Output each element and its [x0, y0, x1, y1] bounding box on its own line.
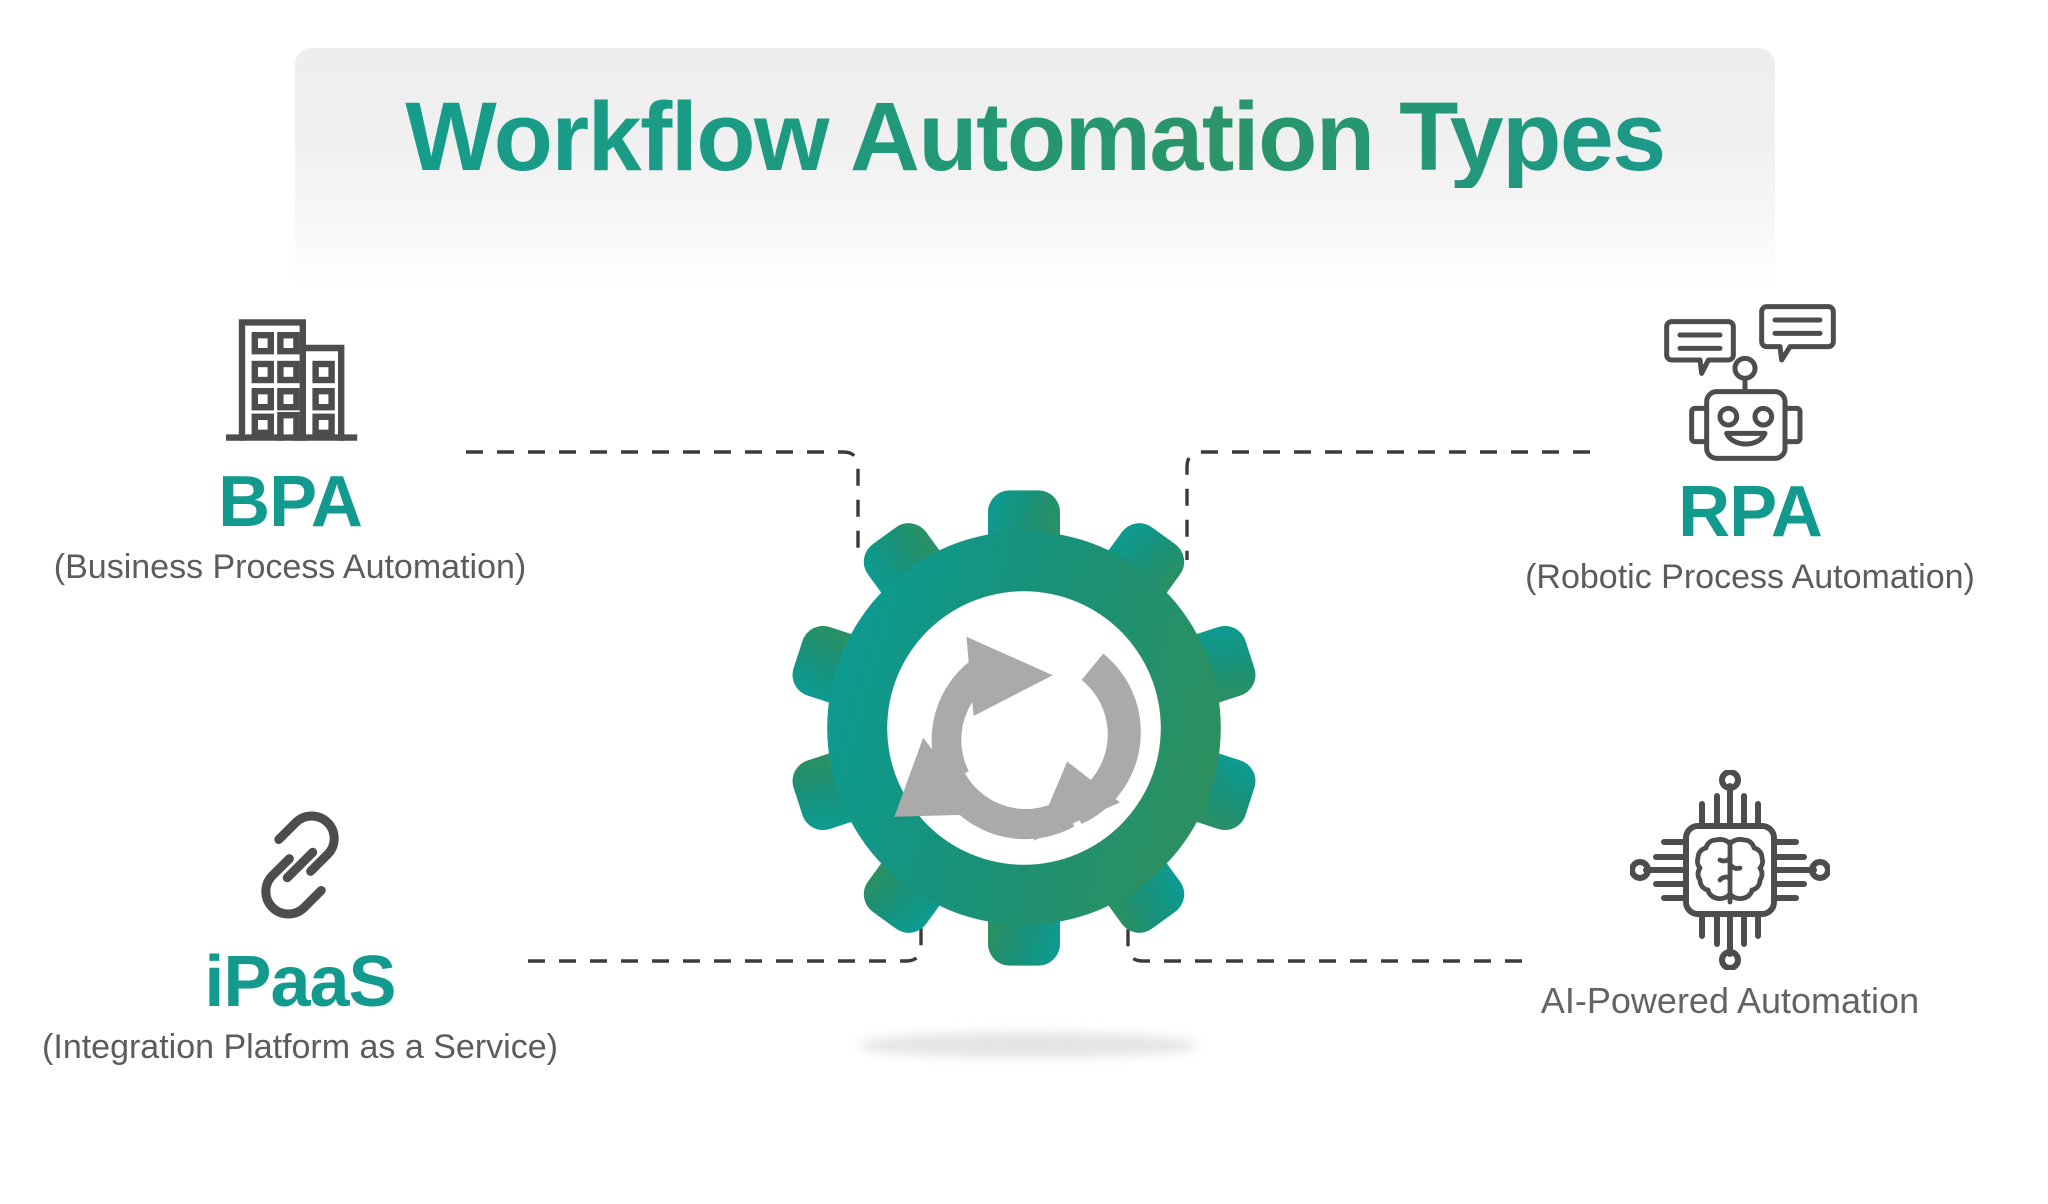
quadrant-ipaas: iPaaS (Integration Platform as a Service…: [10, 790, 590, 1067]
quadrant-ai: AI-Powered Automation: [1440, 770, 2020, 1021]
page-title: Workflow Automation Types: [295, 86, 1775, 188]
gear-icon: [784, 488, 1264, 968]
gear-body: [787, 490, 1261, 965]
quadrant-caption-bpa: (Business Process Automation): [0, 548, 580, 587]
brain-chip-icon: [1630, 770, 1830, 970]
quadrant-title-ipaas: iPaaS: [10, 946, 590, 1018]
quadrant-caption-rpa: (Robotic Process Automation): [1460, 558, 2040, 597]
chain-link-icon: [225, 790, 375, 940]
infographic-canvas: Workflow Automation Types: [0, 0, 2048, 1204]
chatbot-robot-icon: [1650, 300, 1850, 470]
office-building-icon: [210, 300, 370, 460]
quadrant-title-bpa: BPA: [0, 466, 580, 538]
quadrant-title-rpa: RPA: [1460, 476, 2040, 548]
quadrant-caption-ai: AI-Powered Automation: [1440, 980, 2020, 1021]
center-gear: [784, 488, 1264, 968]
quadrant-caption-ipaas: (Integration Platform as a Service): [10, 1028, 590, 1067]
quadrant-rpa: RPA (Robotic Process Automation): [1460, 300, 2040, 597]
quadrant-bpa: BPA (Business Process Automation): [0, 300, 580, 587]
gear-shadow: [858, 1032, 1198, 1058]
